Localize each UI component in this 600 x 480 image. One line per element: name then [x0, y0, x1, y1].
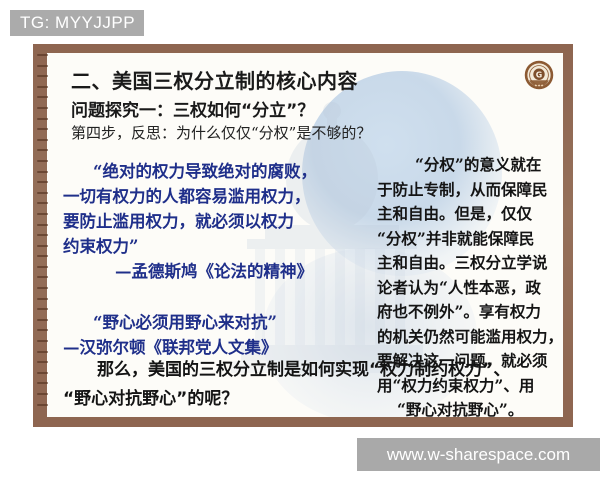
- slide-page: G ★★★ 二、美国三权分立制的核心内容 问题探究一：三权如何“分立”？ 第四步…: [47, 53, 563, 417]
- quote-line: 要防止滥用权力，就必须以权力: [63, 209, 361, 234]
- body-line: 的机关仍然可能滥用权力，: [377, 325, 563, 350]
- closing-line: “野心对抗野心”的呢？: [63, 385, 563, 414]
- step-reflection-line: 第四步，反思：为什么仅仅“分权”是不够的？: [71, 122, 371, 143]
- body-line: 主和自由。三权分立学说: [377, 251, 563, 276]
- page-title: 二、美国三权分立制的核心内容: [71, 65, 358, 94]
- body-line: 论者认为“人性本恶，政: [377, 276, 563, 301]
- body-line: “分权”的意义就在: [377, 153, 563, 178]
- body-line: 主和自由。但是，仅仅: [377, 202, 563, 227]
- closing-question: 那么，美国的三权分立制是如何实现“权力制约权力”、 “野心对抗野心”的呢？: [63, 356, 563, 414]
- quote-attribution: —孟德斯鸠《论法的精神》: [63, 259, 361, 284]
- quote-line: 一切有权力的人都容易滥用权力，: [63, 184, 361, 209]
- body-line: “分权”并非就能保障民: [377, 227, 563, 252]
- svg-text:G: G: [536, 71, 542, 80]
- slide-frame: G ★★★ 二、美国三权分立制的核心内容 问题探究一：三权如何“分立”？ 第四步…: [33, 44, 573, 427]
- site-watermark-label: www.w-sharespace.com: [357, 438, 600, 471]
- national-emblem-seal-icon: G ★★★: [524, 60, 554, 90]
- quotation-column: “绝对的权力导致绝对的腐败， 一切有权力的人都容易滥用权力， 要防止滥用权力，就…: [63, 159, 361, 360]
- quote-block-montesquieu: “绝对的权力导致绝对的腐败， 一切有权力的人都容易滥用权力， 要防止滥用权力，就…: [63, 159, 361, 284]
- quote-block-hamilton: “野心必须用野心来对抗” —汉弥尔顿《联邦党人文集》: [63, 310, 361, 360]
- quote-spacer: [63, 284, 361, 310]
- svg-text:★★★: ★★★: [534, 83, 543, 87]
- body-line: 于防止专制，从而保障民: [377, 178, 563, 203]
- quote-line: “野心必须用野心来对抗”: [63, 310, 361, 335]
- section-subtitle: 问题探究一：三权如何“分立”？: [71, 96, 314, 121]
- quote-line: 约束权力”: [63, 234, 361, 259]
- body-line: 府也不例外”。享有权力: [377, 300, 563, 325]
- closing-line: 那么，美国的三权分立制是如何实现“权力制约权力”、: [63, 356, 563, 385]
- telegram-watermark-label: TG: MYYJJPP: [10, 10, 144, 36]
- quote-line: “绝对的权力导致绝对的腐败，: [63, 159, 361, 184]
- spiral-binding-icon: [37, 54, 48, 417]
